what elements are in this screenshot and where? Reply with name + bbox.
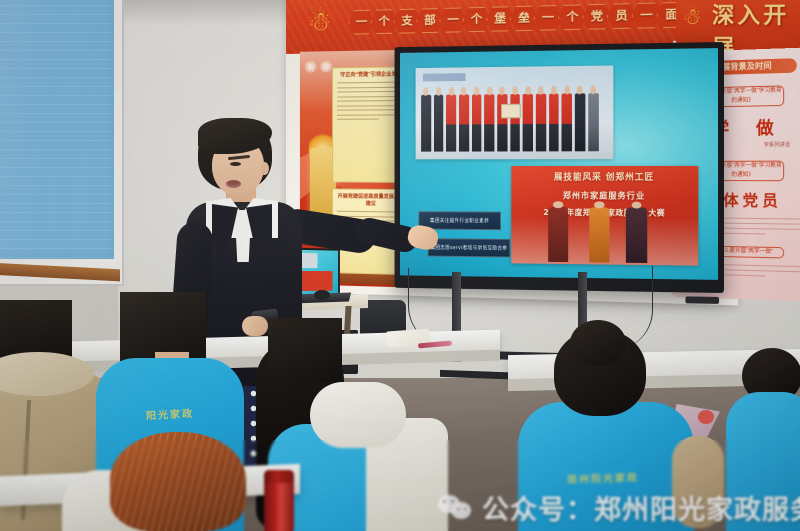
tv-brand-bar	[685, 296, 719, 304]
watermark: 公众号：郑州阳光家政服务公司	[438, 488, 800, 527]
tv-screen: 展技能风采 创郑州工匠 郑州市家庭服务行业 2018年度郑州市家政服务员大赛 集…	[400, 48, 718, 280]
window-blind-texture	[0, 0, 114, 264]
attendee-hair-bun	[570, 320, 626, 366]
attendee-long-hair-head	[268, 318, 342, 382]
watermark-text: 公众号：郑州阳光家政服务公司	[482, 488, 800, 527]
presenter-eye	[230, 162, 241, 166]
attendee-white-scarf	[310, 382, 406, 448]
flask-cap	[264, 470, 294, 483]
right-panel-sub-right: 学系列讲话	[764, 141, 790, 148]
rose-icon	[698, 410, 714, 424]
presenter-ear	[260, 162, 269, 175]
attendee-red-hair-strands	[110, 432, 246, 531]
party-emblem-icon-right: ☃	[682, 4, 702, 30]
wechat-icon	[438, 493, 472, 523]
presenter-mouth	[226, 180, 241, 188]
presenter-left-hand	[242, 316, 268, 336]
wall-television[interactable]: 展技能风采 创郑州工匠 郑州市家庭服务行业 2018年度郑州市家政服务员大赛 集…	[395, 42, 724, 293]
photo-scene: ☃ 一个支部一个堡垒一个党员一面旗帜 ✺✺ 守正向“党建”引领企业发展 开展党建…	[0, 0, 800, 531]
screen-glare	[400, 48, 718, 280]
